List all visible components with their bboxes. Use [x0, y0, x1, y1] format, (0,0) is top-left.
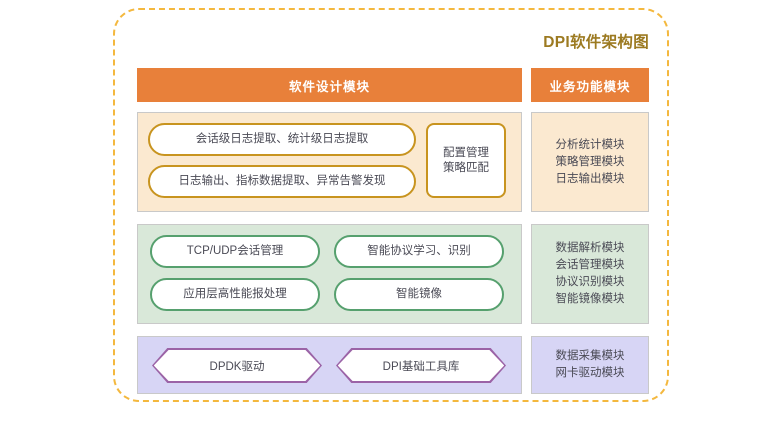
layer-application-design-panel: 会话级日志提取、统计级日志提取 日志输出、指标数据提取、异常告警发现 配置管理 … — [137, 112, 522, 212]
box-dpi-base-toolkit[interactable]: DPI基础工具库 — [336, 348, 506, 383]
business-module-item: 日志输出模块 — [556, 171, 625, 188]
business-module-list-driver: 数据采集模块 网卡驱动模块 — [556, 348, 625, 382]
column-header-row: 软件设计模块 业务功能模块 — [137, 68, 649, 102]
box-config-policy-line2: 策略匹配 — [443, 161, 489, 176]
diagram-canvas: DPI软件架构图 软件设计模块 业务功能模块 会话级日志提取、统计级日志提取 日… — [0, 0, 768, 432]
box-dpdk-driver[interactable]: DPDK驱动 — [152, 348, 322, 383]
business-module-item: 数据采集模块 — [556, 348, 625, 365]
box-dpdk-driver-label: DPDK驱动 — [154, 350, 320, 381]
box-config-policy[interactable]: 配置管理 策略匹配 — [426, 123, 506, 198]
business-module-item: 协议识别模块 — [556, 274, 625, 291]
business-module-item: 会话管理模块 — [556, 257, 625, 274]
box-app-layer-high-perf-packet[interactable]: 应用层高性能报处理 — [150, 278, 320, 311]
layer-driver-business-panel: 数据采集模块 网卡驱动模块 — [531, 336, 649, 394]
business-module-list-protocol: 数据解析模块 会话管理模块 协议识别模块 智能镜像模块 — [556, 240, 625, 308]
box-session-log-extraction[interactable]: 会话级日志提取、统计级日志提取 — [148, 123, 416, 156]
business-module-list-application: 分析统计模块 策略管理模块 日志输出模块 — [556, 137, 625, 188]
layer-protocol-business-panel: 数据解析模块 会话管理模块 协议识别模块 智能镜像模块 — [531, 224, 649, 324]
business-module-item: 策略管理模块 — [556, 154, 625, 171]
column-header-software-design: 软件设计模块 — [137, 68, 522, 102]
layer-protocol-design-panel: TCP/UDP会话管理 智能协议学习、识别 应用层高性能报处理 智能镜像 — [137, 224, 522, 324]
business-module-item: 数据解析模块 — [556, 240, 625, 257]
box-smart-mirroring[interactable]: 智能镜像 — [334, 278, 504, 311]
box-dpi-base-toolkit-label: DPI基础工具库 — [338, 350, 504, 381]
box-log-output-metrics-alarm[interactable]: 日志输出、指标数据提取、异常告警发现 — [148, 165, 416, 198]
box-config-policy-line1: 配置管理 — [443, 146, 489, 161]
layer-protocol: TCP/UDP会话管理 智能协议学习、识别 应用层高性能报处理 智能镜像 数据解… — [137, 224, 649, 324]
layer-application-business-panel: 分析统计模块 策略管理模块 日志输出模块 — [531, 112, 649, 212]
layer-application: 会话级日志提取、统计级日志提取 日志输出、指标数据提取、异常告警发现 配置管理 … — [137, 112, 649, 212]
diagram-title: DPI软件架构图 — [543, 30, 649, 52]
column-header-business-function: 业务功能模块 — [531, 68, 649, 102]
architecture-grid: 软件设计模块 业务功能模块 会话级日志提取、统计级日志提取 日志输出、指标数据提… — [137, 68, 649, 388]
box-smart-protocol-learning[interactable]: 智能协议学习、识别 — [334, 235, 504, 268]
diagram-frame: DPI软件架构图 软件设计模块 业务功能模块 会话级日志提取、统计级日志提取 日… — [113, 8, 669, 402]
layer-driver-design-panel: DPDK驱动 DPI基础工具库 — [137, 336, 522, 394]
box-tcp-udp-session-management[interactable]: TCP/UDP会话管理 — [150, 235, 320, 268]
business-module-item: 分析统计模块 — [556, 137, 625, 154]
business-module-item: 网卡驱动模块 — [556, 365, 625, 382]
layer-driver: DPDK驱动 DPI基础工具库 数据采集模块 网卡驱动模块 — [137, 336, 649, 394]
business-module-item: 智能镜像模块 — [556, 291, 625, 308]
